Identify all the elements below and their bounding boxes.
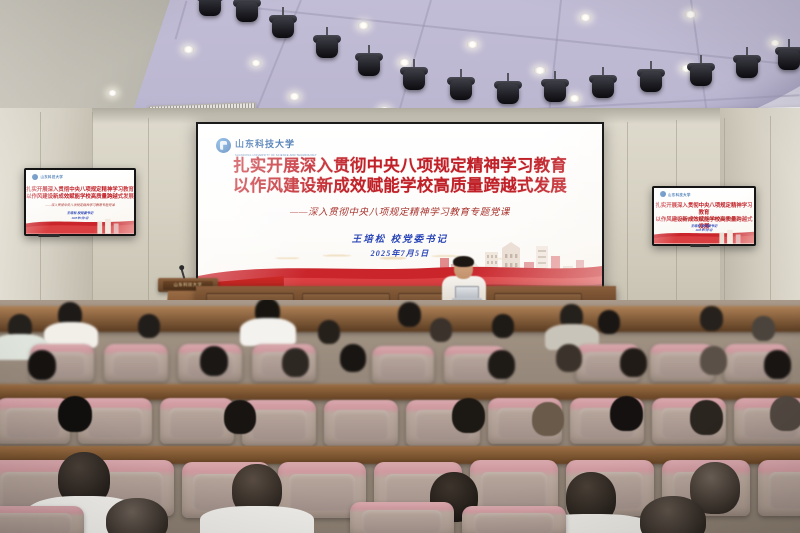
main-projection-screen: 山东科技大学 SHANDONG UNIVERSITY OF SCIENCE AN…	[196, 122, 604, 302]
stage-spotlight	[358, 50, 380, 80]
recessed-downlight	[534, 67, 546, 74]
university-emblem-icon	[216, 138, 231, 153]
audience-head	[430, 318, 452, 342]
recessed-downlight	[467, 41, 478, 48]
stage-spotlight	[497, 78, 519, 108]
left-tv-speaker: 王培松 校党委书记	[26, 210, 134, 215]
audience-head	[492, 314, 514, 338]
right-tv-title-line-1: 扎实开展深入贯彻中央八项规定精神学习教育	[654, 203, 754, 217]
stage-spotlight	[544, 76, 566, 106]
stage-spotlight	[316, 32, 338, 62]
audience-head	[764, 350, 791, 379]
left-tv-ribbon	[26, 217, 134, 234]
stage-spotlight	[778, 44, 800, 74]
slide-title-line-2: 以作风建设新成效赋能学校高质量跨越式发展	[198, 176, 602, 196]
slide-canvas: 山东科技大学 SHANDONG UNIVERSITY OF SCIENCE AN…	[198, 124, 602, 300]
left-tv-logo: 山东科技大学	[32, 174, 63, 180]
stage-spotlight	[690, 60, 712, 90]
wall-panel-seam	[770, 116, 771, 320]
audience-head	[700, 346, 727, 375]
auditorium-seat	[350, 502, 454, 533]
audience-head	[398, 302, 421, 327]
recessed-downlight	[569, 95, 580, 102]
recessed-downlight	[289, 93, 300, 100]
audience-head	[452, 398, 485, 433]
left-tv-title-line-2: 以作风建设新成效赋能学校高质量跨越式发展	[26, 194, 134, 201]
stage-spotlight	[592, 72, 614, 102]
recessed-downlight	[251, 60, 261, 66]
slide-subtitle: ——深入贯彻中央八项规定精神学习教育专题党课	[198, 204, 602, 218]
audience-head	[28, 350, 56, 380]
audience-head	[200, 346, 228, 376]
auditorium-seat	[462, 506, 566, 533]
left-tv-title-line-1: 扎实开展深入贯彻中央八项规定精神学习教育	[26, 187, 134, 194]
right-tv-cable	[690, 244, 710, 247]
right-tv-logo: 山东科技大学	[660, 191, 691, 197]
auditorium-photo: 山东科技大学 SHANDONG UNIVERSITY OF SCIENCE AN…	[0, 0, 800, 533]
university-name-cn: 山东科技大学	[235, 139, 295, 149]
audience-head	[752, 316, 775, 341]
recessed-downlight	[685, 11, 696, 18]
audience-head	[532, 402, 564, 436]
university-emblem-icon	[32, 174, 38, 180]
right-tv-subtitle: ——深入贯彻中央八项规定精神学习教育专题党课	[654, 216, 754, 221]
stage-spotlight	[640, 66, 662, 96]
audience-head	[700, 306, 723, 331]
audience-head	[488, 350, 515, 379]
audience-head	[224, 400, 256, 434]
stage-spotlight	[199, 0, 221, 20]
audience-head	[770, 396, 800, 431]
lecturer-hair	[453, 256, 474, 267]
stage-spotlight	[236, 0, 258, 26]
left-tv-subtitle: ——深入贯彻中央八项规定精神学习教育专题党课	[26, 202, 134, 207]
recessed-downlight	[183, 46, 194, 53]
audience-head	[282, 348, 309, 377]
audience-head	[556, 344, 582, 372]
university-logo: 山东科技大学 SHANDONG UNIVERSITY OF SCIENCE AN…	[216, 134, 317, 157]
audience-head	[340, 344, 366, 372]
audience-shoulders	[240, 318, 296, 346]
audience-area	[0, 300, 800, 533]
audience-head	[620, 348, 647, 377]
slide-title: 扎实开展深入贯彻中央八项规定精神学习教育 以作风建设新成效赋能学校高质量跨越式发…	[198, 156, 602, 196]
wall-panel-seam	[148, 118, 149, 308]
right-tv-ribbon	[654, 229, 754, 244]
auditorium-seat	[372, 346, 434, 384]
slide-title-line-1: 扎实开展深入贯彻中央八项规定精神学习教育	[198, 156, 602, 176]
audience-head	[610, 396, 643, 431]
stage-spotlight	[403, 64, 425, 94]
right-tv-screen: 山东科技大学 扎实开展深入贯彻中央八项规定精神学习教育 以作风建设新成效赋能学校…	[654, 188, 754, 244]
auditorium-seat	[160, 398, 234, 444]
left-tv-institution: 山东科技大学	[40, 174, 63, 179]
wall-panel-seam	[627, 122, 628, 312]
right-wall-tv: 山东科技大学 扎实开展深入贯彻中央八项规定精神学习教育 以作风建设新成效赋能学校…	[652, 186, 756, 246]
stage-spotlight	[736, 52, 758, 82]
audience-head	[138, 314, 160, 338]
recessed-downlight	[580, 14, 591, 21]
left-tv-screen: 山东科技大学 扎实开展深入贯彻中央八项规定精神学习教育 以作风建设新成效赋能学校…	[26, 170, 134, 234]
audience-shoulders	[200, 506, 314, 533]
auditorium-seat	[758, 460, 800, 516]
stage-spotlight	[450, 74, 472, 104]
left-tv-cable	[38, 234, 60, 237]
university-emblem-icon	[660, 191, 666, 197]
audience-head	[106, 498, 168, 533]
left-tv-title: 扎实开展深入贯彻中央八项规定精神学习教育 以作风建设新成效赋能学校高质量跨越式发…	[26, 187, 134, 201]
audience-head	[690, 400, 723, 435]
auditorium-seat	[104, 344, 168, 382]
audience-head	[598, 310, 620, 334]
audience-head	[318, 320, 340, 344]
auditorium-seat	[0, 506, 84, 533]
audience-head	[58, 396, 92, 432]
recessed-downlight	[108, 90, 117, 96]
stage-spotlight	[272, 12, 294, 42]
right-tv-institution: 山东科技大学	[668, 192, 691, 197]
recessed-downlight	[358, 22, 369, 29]
auditorium-seat	[324, 400, 398, 446]
left-wall-tv: 山东科技大学 扎实开展深入贯彻中央八项规定精神学习教育 以作风建设新成效赋能学校…	[24, 168, 136, 236]
